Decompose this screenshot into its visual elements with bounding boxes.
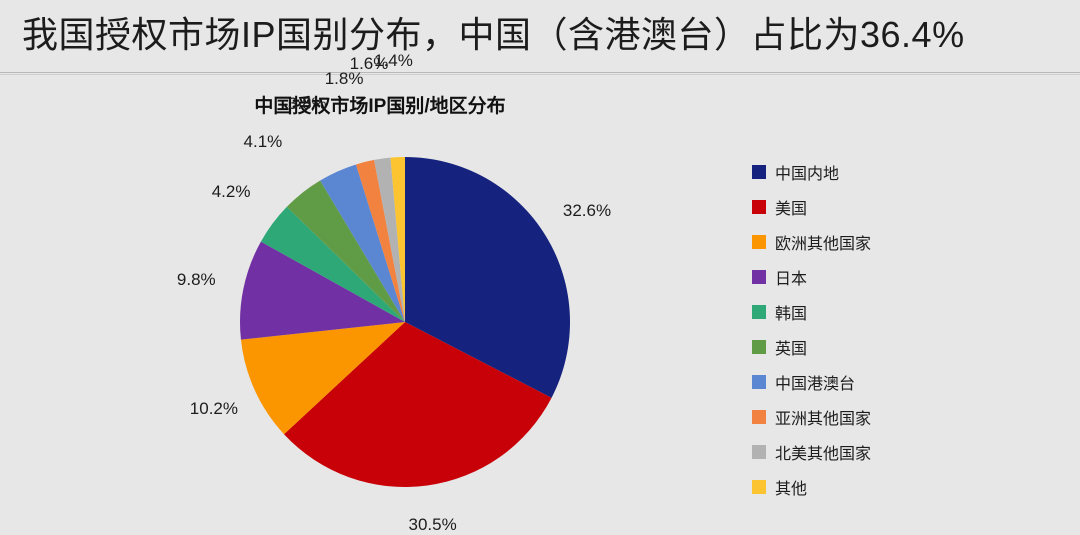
legend-item-label: 北美其他国家 [775, 440, 871, 464]
pie-chart: 32.6%30.5%10.2%9.8%4.2%4.1%3.8%1.8%1.6%1… [0, 76, 740, 533]
legend-item[interactable]: 中国内地 [752, 154, 1052, 189]
pie-slice-label: 1.4% [374, 51, 413, 71]
legend-item-label: 亚洲其他国家 [775, 405, 871, 429]
legend-item[interactable]: 北美其他国家 [752, 434, 1052, 469]
legend-item-label: 英国 [775, 335, 807, 359]
legend-item[interactable]: 美国 [752, 189, 1052, 224]
legend-swatch-icon [752, 235, 766, 249]
legend-item[interactable]: 欧洲其他国家 [752, 224, 1052, 259]
legend-swatch-icon [752, 165, 766, 179]
legend-swatch-icon [752, 375, 766, 389]
legend-swatch-icon [752, 305, 766, 319]
page-title: 我国授权市场IP国别分布，中国（含港澳台）占比为36.4% [22, 11, 965, 59]
chart-area: 中国授权市场IP国别/地区分布 32.6%30.5%10.2%9.8%4.2%4… [0, 76, 1080, 533]
legend-item-label: 日本 [775, 265, 807, 289]
pie-slice-label: 32.6% [563, 201, 611, 221]
legend-item[interactable]: 日本 [752, 259, 1052, 294]
pie-slice-label: 9.8% [177, 270, 216, 290]
legend-item-label: 其他 [775, 475, 807, 499]
legend-swatch-icon [752, 480, 766, 494]
legend-item-label: 韩国 [775, 300, 807, 324]
pie-slice-label: 10.2% [190, 399, 238, 419]
slide-page: 我国授权市场IP国别分布，中国（含港澳台）占比为36.4% 中国授权市场IP国别… [0, 0, 1080, 533]
header-divider [0, 72, 1080, 73]
pie-slice-label: 30.5% [408, 515, 456, 535]
legend-swatch-icon [752, 410, 766, 424]
legend-item[interactable]: 亚洲其他国家 [752, 399, 1052, 434]
pie-slice-group [240, 157, 570, 487]
pie-slice-label: 3.8% [288, 94, 327, 114]
legend-item-label: 中国内地 [775, 160, 839, 184]
legend-swatch-icon [752, 445, 766, 459]
chart-legend: 中国内地美国欧洲其他国家日本韩国英国中国港澳台亚洲其他国家北美其他国家其他 [752, 154, 1052, 504]
legend-item[interactable]: 英国 [752, 329, 1052, 364]
legend-item-label: 美国 [775, 195, 807, 219]
legend-item-label: 中国港澳台 [775, 370, 855, 394]
pie-chart-svg [0, 76, 740, 533]
legend-swatch-icon [752, 200, 766, 214]
legend-item[interactable]: 韩国 [752, 294, 1052, 329]
pie-slice-label: 4.2% [212, 182, 251, 202]
legend-swatch-icon [752, 340, 766, 354]
pie-slice-label: 4.1% [244, 132, 283, 152]
legend-swatch-icon [752, 270, 766, 284]
legend-item[interactable]: 其他 [752, 469, 1052, 504]
legend-item[interactable]: 中国港澳台 [752, 364, 1052, 399]
header-band: 我国授权市场IP国别分布，中国（含港澳台）占比为36.4% [0, 0, 1080, 72]
legend-item-label: 欧洲其他国家 [775, 230, 871, 254]
header-divider-shadow [0, 74, 1080, 75]
